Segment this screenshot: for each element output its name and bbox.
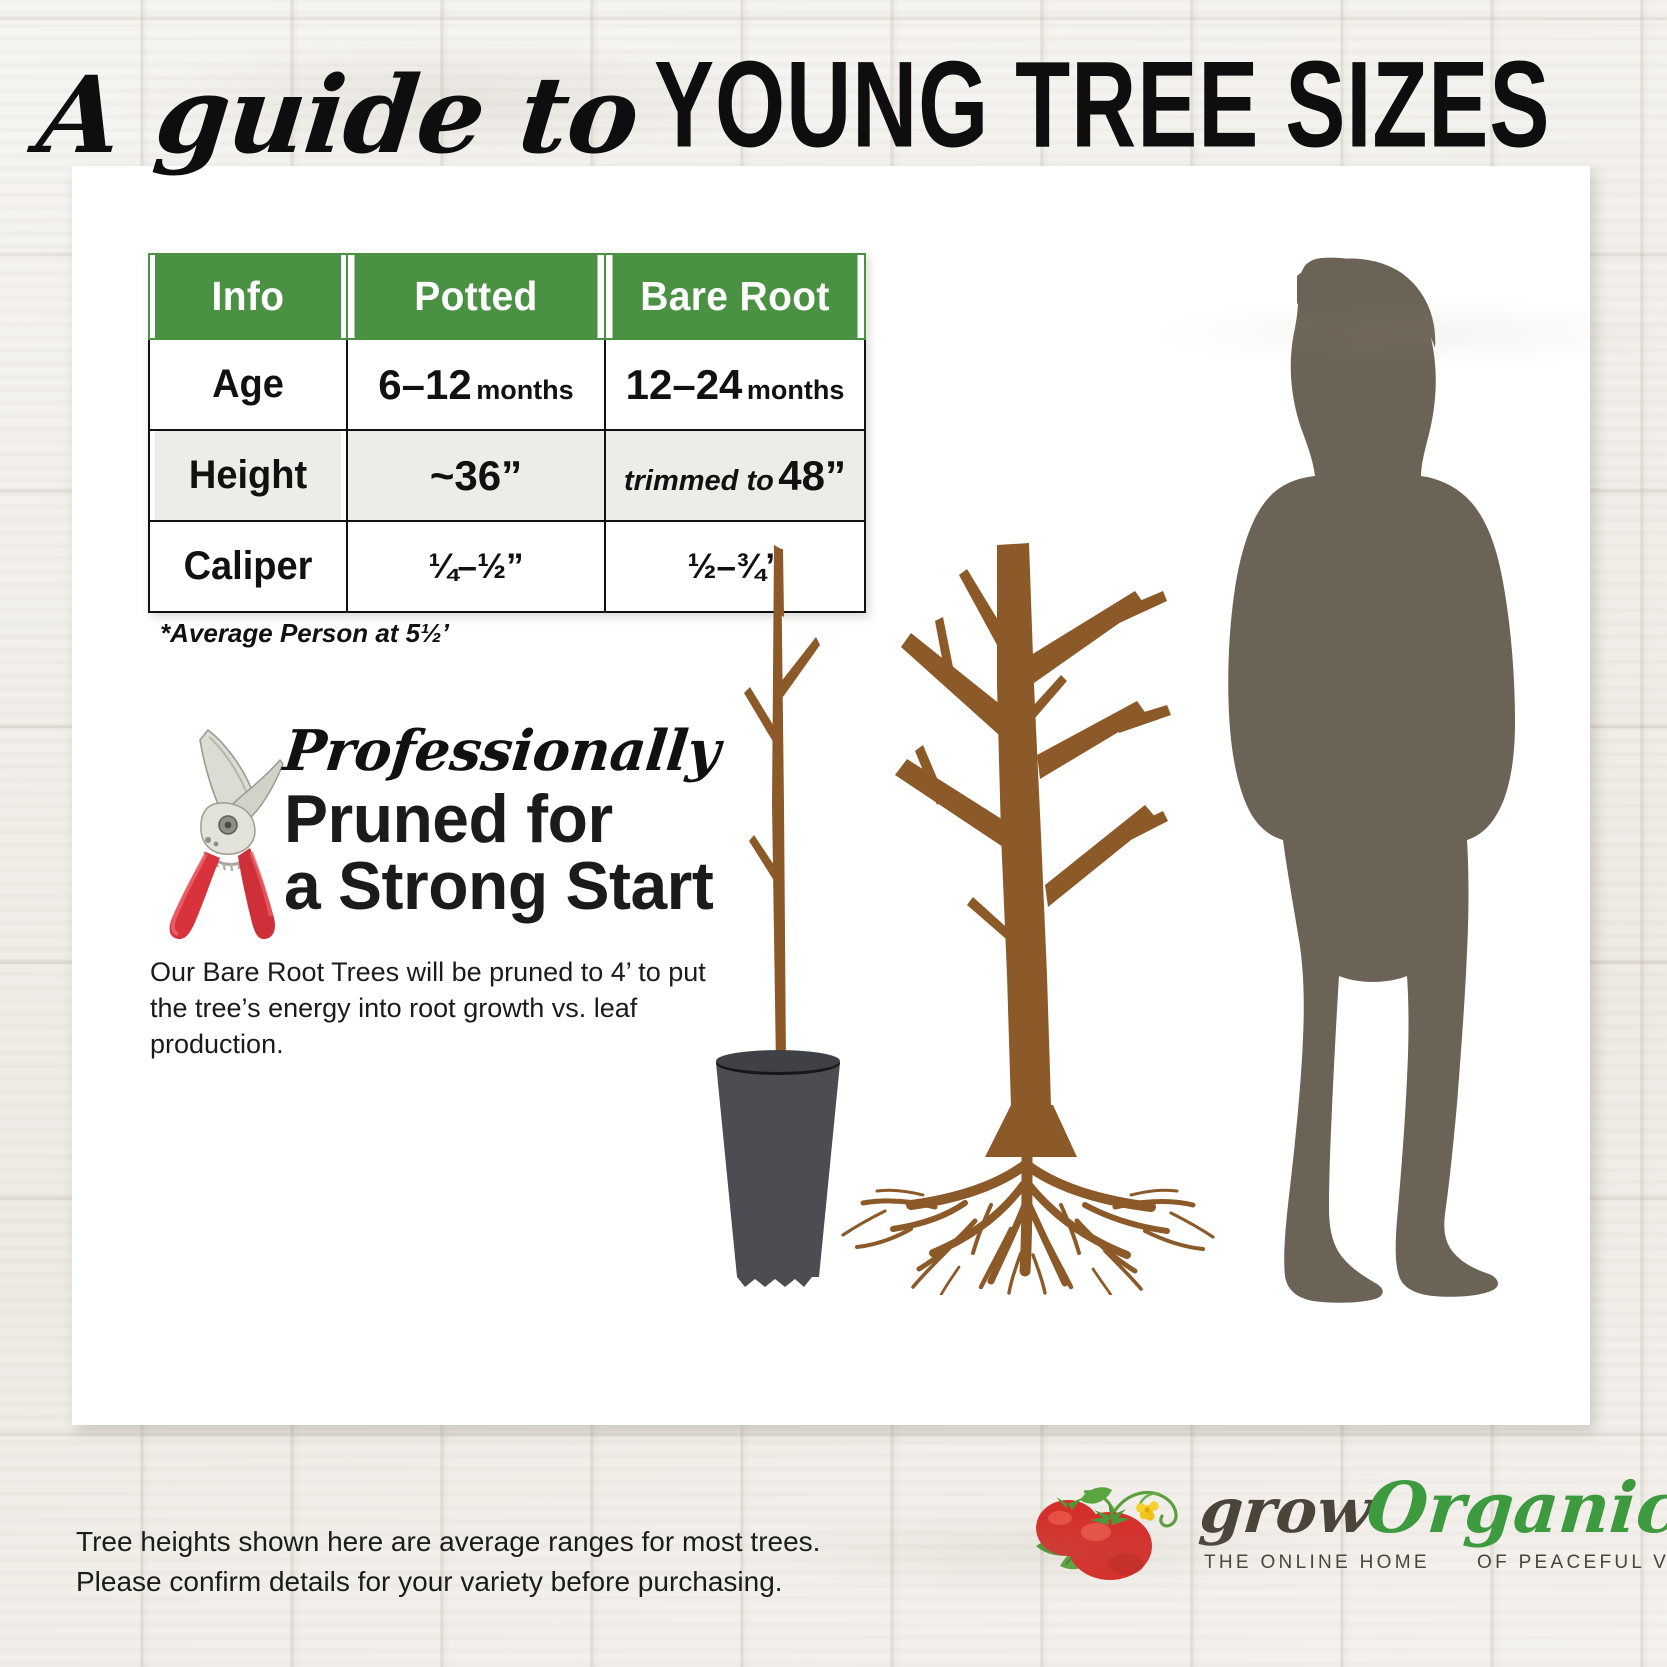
age-bare-value: 12–24: [626, 361, 743, 408]
tomato-cluster-icon: [1022, 1460, 1197, 1590]
caliper-potted-value: ¼–½”: [428, 547, 523, 586]
pruning-body-line2: the tree’s energy into root growth vs. l…: [150, 991, 750, 1063]
height-bare-prefix: trimmed to: [624, 465, 774, 497]
header-bare-root: Bare Root: [612, 254, 859, 339]
cell-age-potted: 6–12 months: [347, 339, 605, 430]
grow-organic-logo[interactable]: growOrganic.com THE ONLINE HOME OF PEACE…: [1022, 1452, 1592, 1602]
logo-word-grow: grow: [1197, 1474, 1374, 1547]
header-info: Info: [154, 254, 342, 339]
hand-pruner-icon: [152, 712, 292, 942]
logo-tagline-right: OF PEACEFUL VALLEY: [1477, 1552, 1667, 1573]
cell-height-potted: ~36”: [347, 430, 605, 521]
age-bare-unit: months: [747, 375, 845, 405]
title-block-part: YOUNG TREE SIZES: [654, 34, 1550, 175]
title-script-part: A guide to: [32, 52, 644, 177]
header-potted: Potted: [353, 254, 598, 339]
age-potted-value: 6–12: [378, 361, 471, 408]
footer-line1: Tree heights shown here are average rang…: [76, 1522, 820, 1562]
pruning-script-line: Professionally: [281, 718, 723, 784]
logo-tagline: THE ONLINE HOME OF PEACEFUL VALLEY: [1204, 1552, 1667, 1574]
logo-word-organic: Organic: [1363, 1466, 1667, 1549]
row-label-age: Age: [154, 339, 342, 430]
row-label-height: Height: [154, 430, 342, 521]
page-title: A guide toYOUNG TREE SIZES: [0, 52, 1667, 177]
row-label-caliper: Caliper: [154, 521, 342, 612]
pruning-body-text: Our Bare Root Trees will be pruned to 4’…: [150, 955, 750, 1063]
cell-age-bare: 12–24 months: [605, 339, 865, 430]
footer-line2: Please confirm details for your variety …: [76, 1562, 820, 1602]
height-bare-value: 48”: [778, 452, 846, 499]
infographic-canvas: A guide toYOUNG TREE SIZES Info Potted B…: [0, 0, 1667, 1667]
age-potted-unit: months: [476, 375, 574, 405]
logo-tagline-left: THE ONLINE HOME: [1204, 1552, 1430, 1573]
table-row-age: Age 6–12 months 12–24 months: [149, 339, 865, 430]
table-header-row: Info Potted Bare Root: [149, 254, 865, 339]
average-person-note: *Average Person at 5½’: [160, 618, 449, 649]
cell-caliper-potted: ¼–½”: [347, 521, 605, 612]
footer-disclaimer: Tree heights shown here are average rang…: [76, 1522, 820, 1602]
pruning-body-line1: Our Bare Root Trees will be pruned to 4’…: [150, 955, 750, 991]
height-potted-value: ~36”: [430, 452, 522, 499]
person-silhouette: [1085, 252, 1545, 1312]
